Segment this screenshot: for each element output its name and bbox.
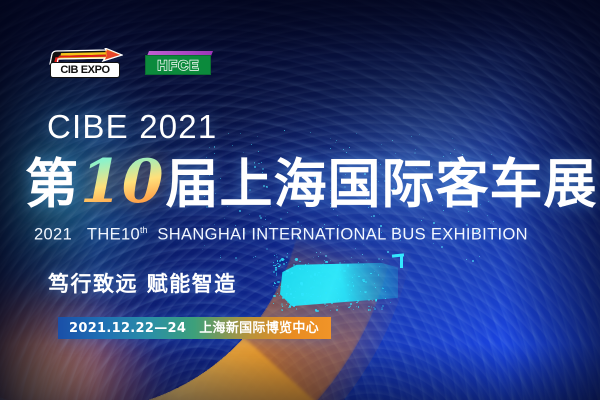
hfce-letter-c: C [178, 58, 189, 72]
subtitle-the10: THE10 [87, 226, 140, 244]
cibexpo-logo[interactable]: CIB EXPO [48, 48, 123, 80]
edition-number: 10 [80, 152, 164, 212]
subtitle-ordinal: th [140, 225, 148, 235]
hfce-letters: H F C E [145, 55, 211, 75]
hfce-letter-e: E [189, 58, 199, 72]
event-info-bar: 2021.12.22—24 上海新国际博览中心 [58, 317, 331, 339]
logo-row: CIB EXPO H F C E [48, 48, 213, 80]
subtitle-year: 2021 [34, 226, 72, 244]
headline-prefix: 第 [25, 158, 79, 211]
page-title: CIBE 2021 [47, 110, 217, 143]
event-poster: CIB EXPO H F C E CIBE 2021 第 10 届上海国际客车展… [0, 0, 600, 400]
event-venue: 上海新国际博览中心 [199, 322, 319, 335]
subtitle-rest: SHANGHAI INTERNATIONAL BUS EXHIBITION [157, 226, 528, 244]
cibexpo-wordmark: CIB EXPO [50, 62, 120, 78]
hfce-letter-f: F [168, 58, 178, 72]
hfce-logo[interactable]: H F C E [145, 51, 213, 77]
headline-suffix: 届上海国际客车展 [166, 158, 598, 211]
headline-chinese: 第 10 届上海国际客车展 [25, 152, 598, 214]
subtitle-english: 2021 THE10th SHANGHAI INTERNATIONAL BUS … [34, 225, 528, 245]
cibexpo-text: CIB EXPO [60, 65, 109, 76]
slogan-text: 笃行致远 赋能智造 [48, 268, 237, 298]
event-dates: 2021.12.22—24 [69, 322, 186, 335]
hfce-letter-h: H [157, 58, 168, 72]
